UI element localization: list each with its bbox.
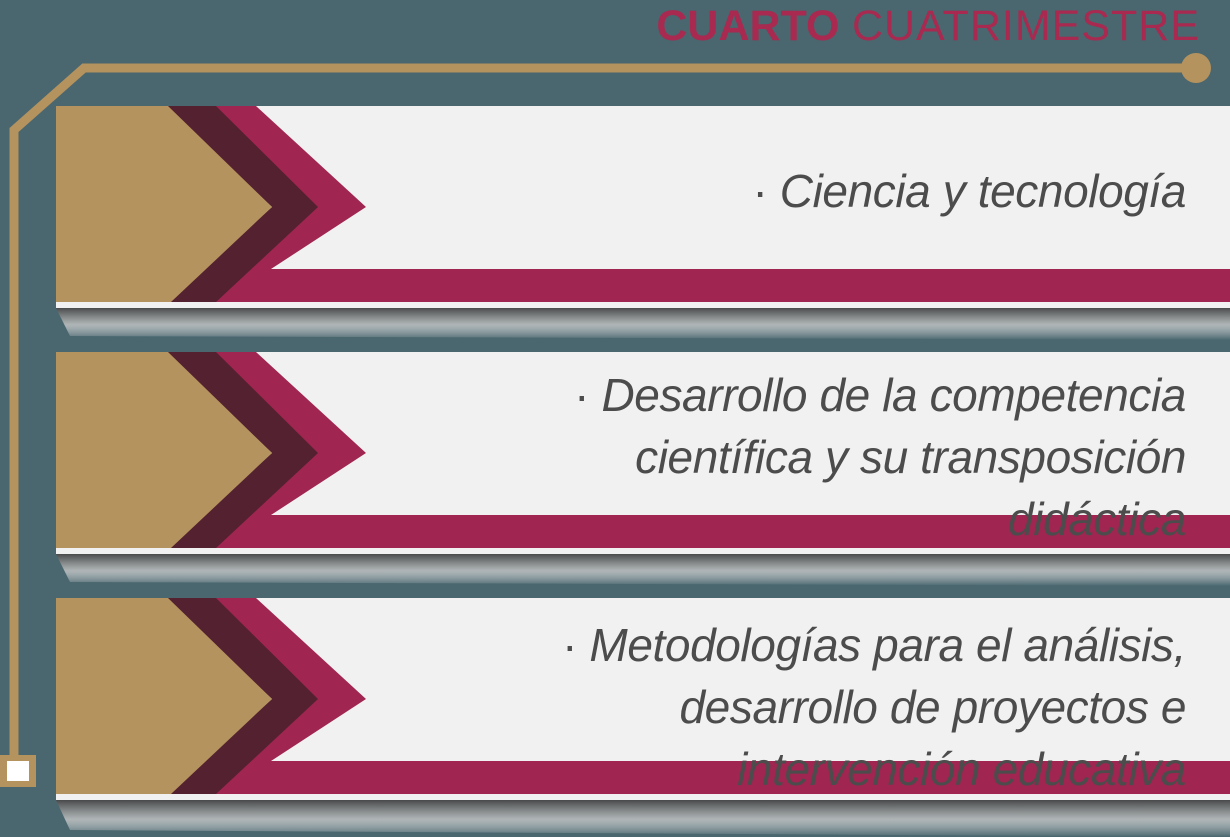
content-card-3[interactable]: · Metodologías para el análisis, desarro… <box>56 592 1230 837</box>
bullet-icon: · <box>562 619 577 671</box>
card-3-line-1: · Metodologías para el análisis, <box>376 614 1186 676</box>
bullet-icon: · <box>752 165 767 217</box>
card-2-line-2: científica y su transposición <box>376 426 1186 488</box>
bullet-icon: · <box>574 369 589 421</box>
card-1-line-1: · Ciencia y tecnología <box>376 160 1186 222</box>
card-shadow <box>56 798 1230 837</box>
content-card-1[interactable]: · Ciencia y tecnología <box>56 100 1230 340</box>
timeline-end-dot <box>1181 53 1211 83</box>
timeline-start-marker-inner <box>7 761 29 781</box>
card-shadow <box>56 552 1230 586</box>
card-2-line-1: · Desarrollo de la competencia <box>376 364 1186 426</box>
card-3-line-1-text: Metodologías para el análisis, <box>589 619 1186 671</box>
card-3-line-3: intervención educativa <box>376 738 1186 800</box>
slide-canvas: CUARTO CUATRIMESTRE <box>0 0 1230 837</box>
card-3-line-2: desarrollo de proyectos e <box>376 676 1186 738</box>
card-1-line-1-text: Ciencia y tecnología <box>780 165 1186 217</box>
page-title-light: CUATRIMESTRE <box>852 2 1200 50</box>
page-title: CUARTO CUATRIMESTRE <box>0 0 1200 52</box>
card-3-text: · Metodologías para el análisis, desarro… <box>376 614 1186 800</box>
timeline-start-marker <box>0 755 36 787</box>
card-2-line-3: didáctica <box>376 488 1186 550</box>
card-2-text: · Desarrollo de la competencia científic… <box>376 364 1186 550</box>
content-card-2[interactable]: · Desarrollo de la competencia científic… <box>56 346 1230 586</box>
card-shadow <box>56 306 1230 340</box>
page-title-strong: CUARTO <box>656 2 839 50</box>
card-2-line-1-text: Desarrollo de la competencia <box>601 369 1186 421</box>
card-1-text: · Ciencia y tecnología <box>376 160 1186 222</box>
